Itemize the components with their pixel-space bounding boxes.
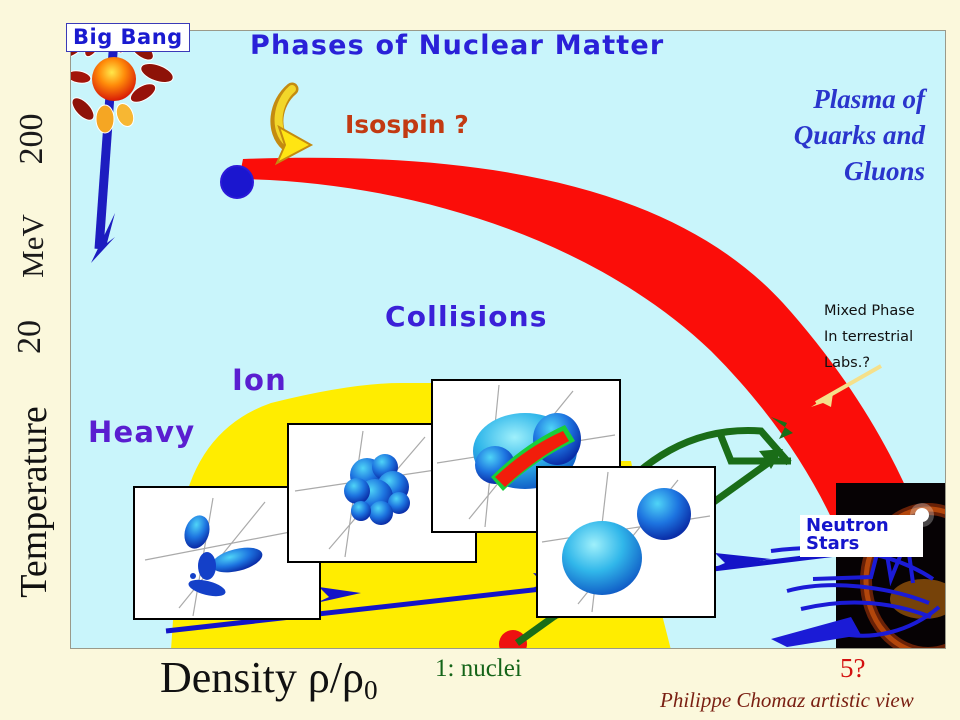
curved-arrow-icon — [277, 89, 311, 163]
ion-label: Ion — [232, 363, 287, 397]
big-bang-icon — [71, 31, 176, 263]
page-title: Phases of Nuclear Matter — [250, 30, 664, 61]
x-tick-nuclei: 1: nuclei — [435, 655, 522, 683]
x-tick-five: 5? — [840, 653, 865, 684]
mixed-phase-label-line3: Labs.? — [824, 355, 870, 371]
figure-root: 200 MeV 20 Temperature Density ρ/ρ0 Phas… — [0, 0, 960, 720]
y-axis-title: Temperature — [12, 392, 56, 612]
critical-point-marker — [221, 166, 253, 198]
x-axis-title-text: Density ρ/ρ — [160, 653, 364, 702]
isospin-label: Isospin ? — [345, 110, 469, 139]
mixed-phase-label-line2: In terrestrial — [824, 329, 913, 345]
qgp-label-line3: Gluons — [700, 156, 925, 187]
sim-panel-two-nuclei — [536, 466, 716, 618]
x-axis-title-subscript: 0 — [364, 675, 378, 705]
heavy-label: Heavy — [88, 415, 195, 449]
neutron-stars-label-line2: Stars — [806, 535, 889, 553]
y-tick-20: 20 — [11, 307, 49, 367]
qgp-label-line1: Plasma of — [700, 84, 925, 115]
credit-line: Philippe Chomaz artistic view — [660, 688, 914, 713]
qgp-label-line2: Quarks and — [700, 120, 925, 151]
neutron-star-image — [836, 483, 946, 649]
x-axis-title: Density ρ/ρ0 — [160, 652, 378, 706]
collisions-label: Collisions — [385, 300, 548, 333]
y-tick-200: 200 — [13, 99, 51, 179]
big-bang-label: Big Bang — [73, 25, 183, 49]
big-bang-callout: Big Bang — [66, 23, 190, 52]
y-axis-unit: MeV — [15, 201, 51, 291]
mixed-phase-label-line1: Mixed Phase — [824, 303, 915, 319]
neutron-stars-callout: Neutron Stars — [800, 515, 923, 557]
